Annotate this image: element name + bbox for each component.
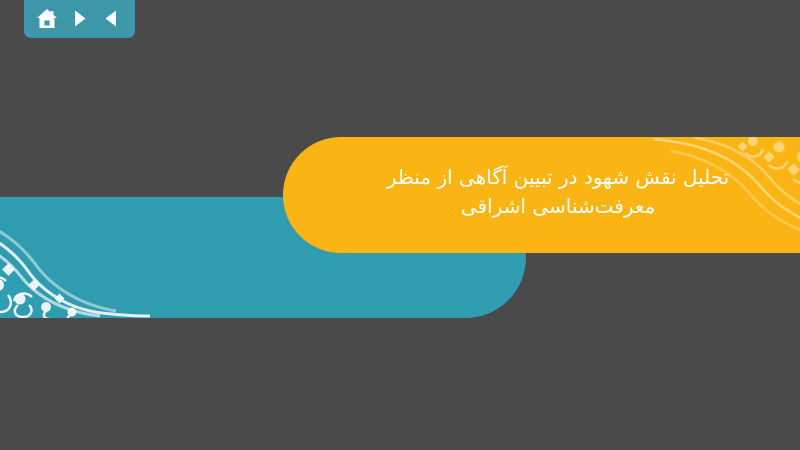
home-button[interactable] bbox=[34, 6, 61, 31]
forward-button[interactable] bbox=[66, 6, 93, 31]
back-button[interactable] bbox=[98, 6, 125, 31]
forward-triangle-icon bbox=[70, 9, 89, 28]
back-triangle-icon bbox=[102, 9, 121, 28]
navigation-bar bbox=[24, 0, 135, 38]
title-line-2: معرفت‌شناسی اشراقی bbox=[283, 192, 800, 221]
slide-canvas: تحلیل نقش شهود در تبیین آگاهی از منظر مع… bbox=[0, 0, 800, 450]
slide-title: تحلیل نقش شهود در تبیین آگاهی از منظر مع… bbox=[283, 163, 800, 221]
title-line-1: تحلیل نقش شهود در تبیین آگاهی از منظر bbox=[283, 163, 800, 192]
title-banner-panel: تحلیل نقش شهود در تبیین آگاهی از منظر مع… bbox=[283, 137, 800, 253]
teal-arabesque-ornament-icon bbox=[0, 197, 150, 318]
home-icon bbox=[36, 8, 58, 29]
